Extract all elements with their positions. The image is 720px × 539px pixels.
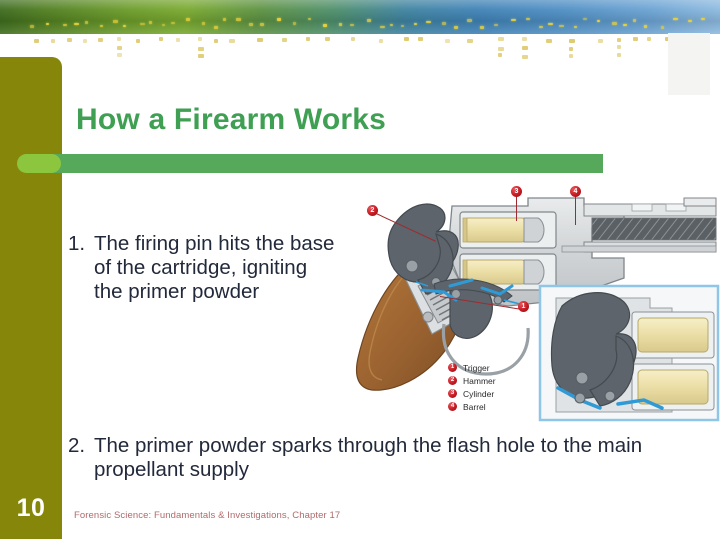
- legend-badge-2: 2: [448, 376, 457, 385]
- gel-dot: [198, 54, 204, 58]
- gel-dot: [414, 23, 417, 25]
- gel-dot: [647, 37, 651, 41]
- bullet-item-2: 2. The primer powder sparks through the …: [68, 434, 668, 482]
- gel-dot: [569, 54, 573, 58]
- gel-dot: [480, 26, 484, 29]
- gel-dot: [83, 39, 87, 43]
- gel-dot: [454, 26, 458, 29]
- callout-badge-3: 3: [511, 186, 522, 197]
- page-title: How a Firearm Works: [76, 103, 386, 137]
- gel-dot: [162, 24, 165, 26]
- gel-dot: [617, 38, 621, 42]
- gel-dot: [617, 53, 621, 57]
- gel-dot: [522, 55, 528, 59]
- gel-dot: [30, 25, 34, 28]
- hammer-detail-inset: [540, 286, 718, 420]
- bullet-number-1: 1.: [68, 232, 94, 256]
- gel-dot: [63, 24, 67, 26]
- gel-dot: [140, 23, 145, 25]
- left-accent-bar: [0, 57, 62, 539]
- gel-dot: [442, 22, 446, 25]
- gel-dot: [367, 19, 371, 22]
- footer-citation: Forensic Science: Fundamentals & Investi…: [74, 510, 340, 521]
- gel-dot: [198, 37, 202, 41]
- gel-dot: [633, 37, 638, 41]
- gel-dot: [123, 25, 126, 27]
- legend-row-barrel: 4 Barrel: [448, 401, 538, 412]
- gel-dot: [249, 23, 253, 26]
- gel-dot: [467, 19, 472, 22]
- legend-row-cylinder: 3 Cylinder: [448, 388, 538, 399]
- callout-badge-1: 1: [518, 301, 529, 312]
- legend-label-4: Barrel: [463, 402, 486, 412]
- legend-label-3: Cylinder: [463, 389, 494, 399]
- legend-badge-1: 1: [448, 363, 457, 372]
- gel-dot: [350, 24, 354, 26]
- gel-dot: [498, 53, 502, 57]
- legend-row-hammer: 2 Hammer: [448, 375, 538, 386]
- gel-dot: [633, 19, 636, 22]
- callout-badge-4: 4: [570, 186, 581, 197]
- gel-dot: [260, 23, 264, 26]
- gel-dot: [559, 25, 564, 27]
- gel-dot: [583, 18, 587, 20]
- title-underline-bar: [36, 154, 603, 173]
- gel-dot: [546, 39, 552, 43]
- gel-dot: [293, 22, 296, 25]
- gel-dot: [351, 37, 355, 41]
- gel-dot: [67, 38, 72, 42]
- legend-row-trigger: 1 Trigger: [448, 362, 538, 373]
- gel-dot: [511, 19, 516, 21]
- band-sheen: [0, 0, 720, 34]
- bullet-text-1: The firing pin hits the base of the cart…: [94, 232, 338, 304]
- gel-dot: [569, 39, 575, 43]
- gel-dot: [117, 46, 122, 50]
- gel-dot: [617, 45, 621, 49]
- gel-dot: [661, 26, 664, 29]
- callout-leader-4: [575, 195, 576, 225]
- gel-dot: [623, 24, 627, 26]
- gel-dot: [171, 22, 175, 24]
- gel-dot: [306, 37, 310, 41]
- gel-dot: [673, 18, 678, 20]
- gel-dot: [644, 25, 647, 28]
- fingerprint-icon: [668, 33, 710, 95]
- gel-dot: [325, 37, 330, 41]
- gel-dot: [612, 22, 617, 25]
- gel-dot: [98, 38, 103, 42]
- gel-dot: [390, 24, 393, 26]
- callout-badge-2: 2: [367, 205, 378, 216]
- gel-dot: [282, 38, 287, 42]
- callout-leader-3: [516, 195, 517, 221]
- gel-dot: [74, 23, 79, 25]
- gel-dot: [223, 18, 226, 21]
- gel-dot: [277, 18, 281, 21]
- gel-dot: [498, 47, 504, 51]
- fingerprint-backdrop: [668, 33, 710, 95]
- legend-badge-4: 4: [448, 402, 457, 411]
- gel-dot: [701, 18, 705, 20]
- gel-dot: [159, 37, 163, 41]
- gel-dot: [494, 24, 498, 26]
- gel-dot: [404, 37, 409, 41]
- gel-dot: [323, 24, 327, 27]
- gel-dot: [574, 26, 577, 28]
- gel-dot: [229, 39, 235, 43]
- gel-dot: [51, 39, 55, 43]
- gel-dot: [597, 20, 600, 22]
- gel-dot: [214, 39, 218, 43]
- diagram-legend: 1 Trigger 2 Hammer 3 Cylinder 4 Barrel: [448, 362, 538, 414]
- gel-dot: [522, 46, 528, 50]
- gel-dot: [34, 39, 39, 43]
- gel-dot: [100, 25, 103, 27]
- gel-dot: [598, 39, 603, 43]
- gel-dot: [380, 26, 385, 28]
- gel-dot: [539, 26, 543, 28]
- gel-dot: [149, 21, 152, 24]
- title-underline-cap: [17, 154, 61, 173]
- gel-dot: [117, 53, 122, 57]
- gel-dot: [688, 20, 692, 22]
- legend-label-2: Hammer: [463, 376, 496, 386]
- bullet-text-2: The primer powder sparks through the fla…: [94, 434, 668, 482]
- gel-dot: [522, 37, 527, 41]
- gel-dot: [569, 47, 573, 51]
- gel-dot: [46, 23, 49, 25]
- gel-dot: [548, 23, 553, 25]
- gel-dot: [426, 21, 431, 23]
- gel-dot: [186, 18, 190, 21]
- gel-dot: [379, 39, 383, 43]
- gel-dot: [117, 37, 121, 41]
- gel-dot: [198, 47, 204, 51]
- gel-dot: [113, 20, 118, 23]
- dna-gel-band: [0, 0, 720, 34]
- legend-badge-3: 3: [448, 389, 457, 398]
- gel-dot: [236, 18, 241, 21]
- gel-dot: [401, 25, 404, 27]
- legend-label-1: Trigger: [463, 363, 490, 373]
- page-number: 10: [0, 494, 62, 523]
- gel-dot: [526, 18, 530, 20]
- gel-dot: [339, 23, 342, 26]
- gel-dot: [445, 39, 450, 43]
- gel-dot: [176, 38, 180, 42]
- bullet-item-1: 1. The firing pin hits the base of the c…: [68, 232, 338, 304]
- bullet-number-2: 2.: [68, 434, 94, 458]
- gel-dot: [308, 18, 311, 20]
- gel-dot: [418, 37, 423, 41]
- gel-dot: [85, 21, 88, 24]
- slide-canvas: 10 How a Firearm Works 1. The firing pin…: [0, 0, 720, 539]
- gel-dot: [214, 26, 218, 29]
- gel-dot: [257, 38, 263, 42]
- gel-dot: [202, 22, 205, 25]
- gel-dot: [498, 37, 504, 41]
- gel-dot: [467, 39, 473, 43]
- band-dots-lower: [0, 34, 720, 60]
- gel-dot: [136, 39, 140, 43]
